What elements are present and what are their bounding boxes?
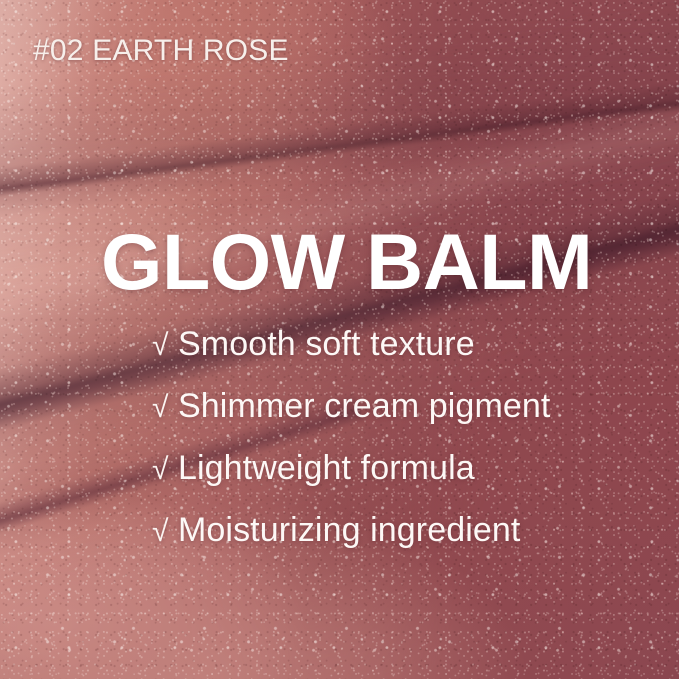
check-icon: √ (152, 515, 178, 549)
feature-item: √ Lightweight formula (152, 449, 550, 511)
check-icon: √ (152, 453, 178, 487)
check-icon: √ (152, 391, 178, 425)
feature-item: √ Shimmer cream pigment (152, 387, 550, 449)
product-title: GLOW BALM (101, 216, 592, 308)
feature-item: √ Smooth soft texture (152, 325, 550, 387)
feature-label: Moisturizing ingredient (178, 511, 520, 550)
banner-content: #02 EARTH ROSE GLOW BALM √ Smooth soft t… (0, 0, 679, 679)
feature-label: Lightweight formula (178, 449, 475, 488)
feature-label: Smooth soft texture (178, 325, 475, 364)
product-banner: #02 EARTH ROSE GLOW BALM √ Smooth soft t… (0, 0, 679, 679)
feature-label: Shimmer cream pigment (178, 387, 550, 426)
check-icon: √ (152, 329, 178, 363)
shade-name-label: #02 EARTH ROSE (33, 34, 289, 68)
feature-item: √ Moisturizing ingredient (152, 511, 550, 573)
feature-list: √ Smooth soft texture √ Shimmer cream pi… (152, 325, 550, 573)
